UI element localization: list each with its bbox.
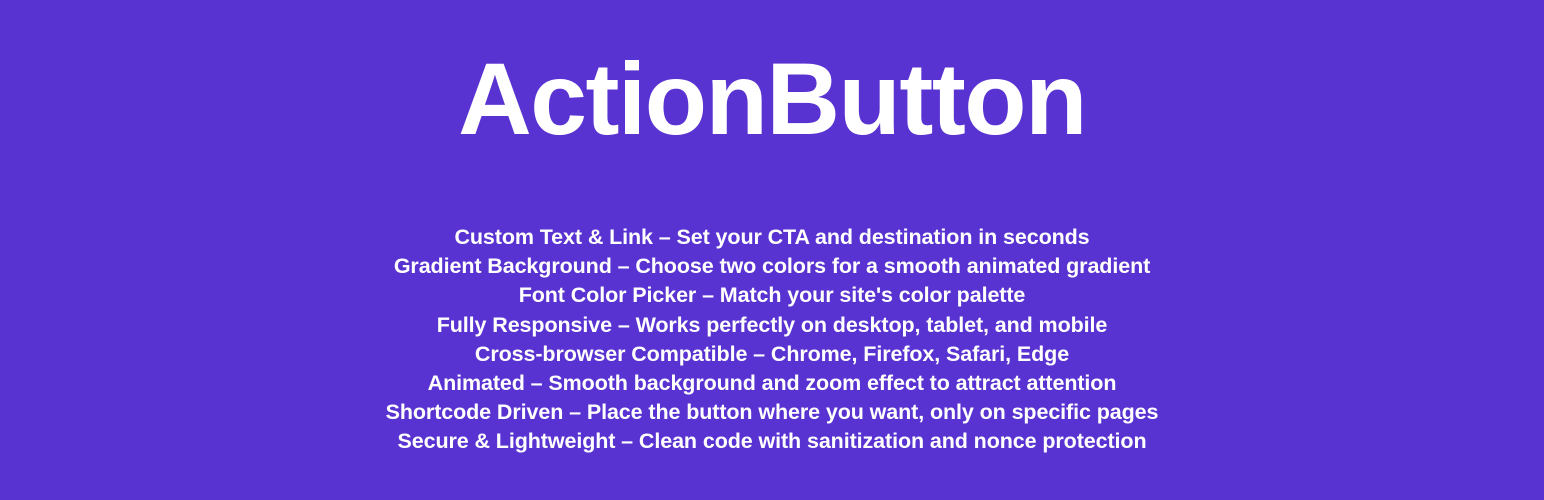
list-item: Shortcode Driven – Place the button wher… bbox=[0, 398, 1544, 427]
list-item: Animated – Smooth background and zoom ef… bbox=[0, 369, 1544, 398]
page-title: ActionButton bbox=[0, 47, 1544, 151]
list-item: Cross-browser Compatible – Chrome, Firef… bbox=[0, 340, 1544, 369]
list-item: Gradient Background – Choose two colors … bbox=[0, 252, 1544, 281]
plugin-banner: ActionButton Custom Text & Link – Set yo… bbox=[0, 0, 1544, 500]
list-item: Font Color Picker – Match your site's co… bbox=[0, 281, 1544, 310]
list-item: Custom Text & Link – Set your CTA and de… bbox=[0, 223, 1544, 252]
feature-list: Custom Text & Link – Set your CTA and de… bbox=[0, 223, 1544, 457]
list-item: Secure & Lightweight – Clean code with s… bbox=[0, 427, 1544, 456]
list-item: Fully Responsive – Works perfectly on de… bbox=[0, 311, 1544, 340]
